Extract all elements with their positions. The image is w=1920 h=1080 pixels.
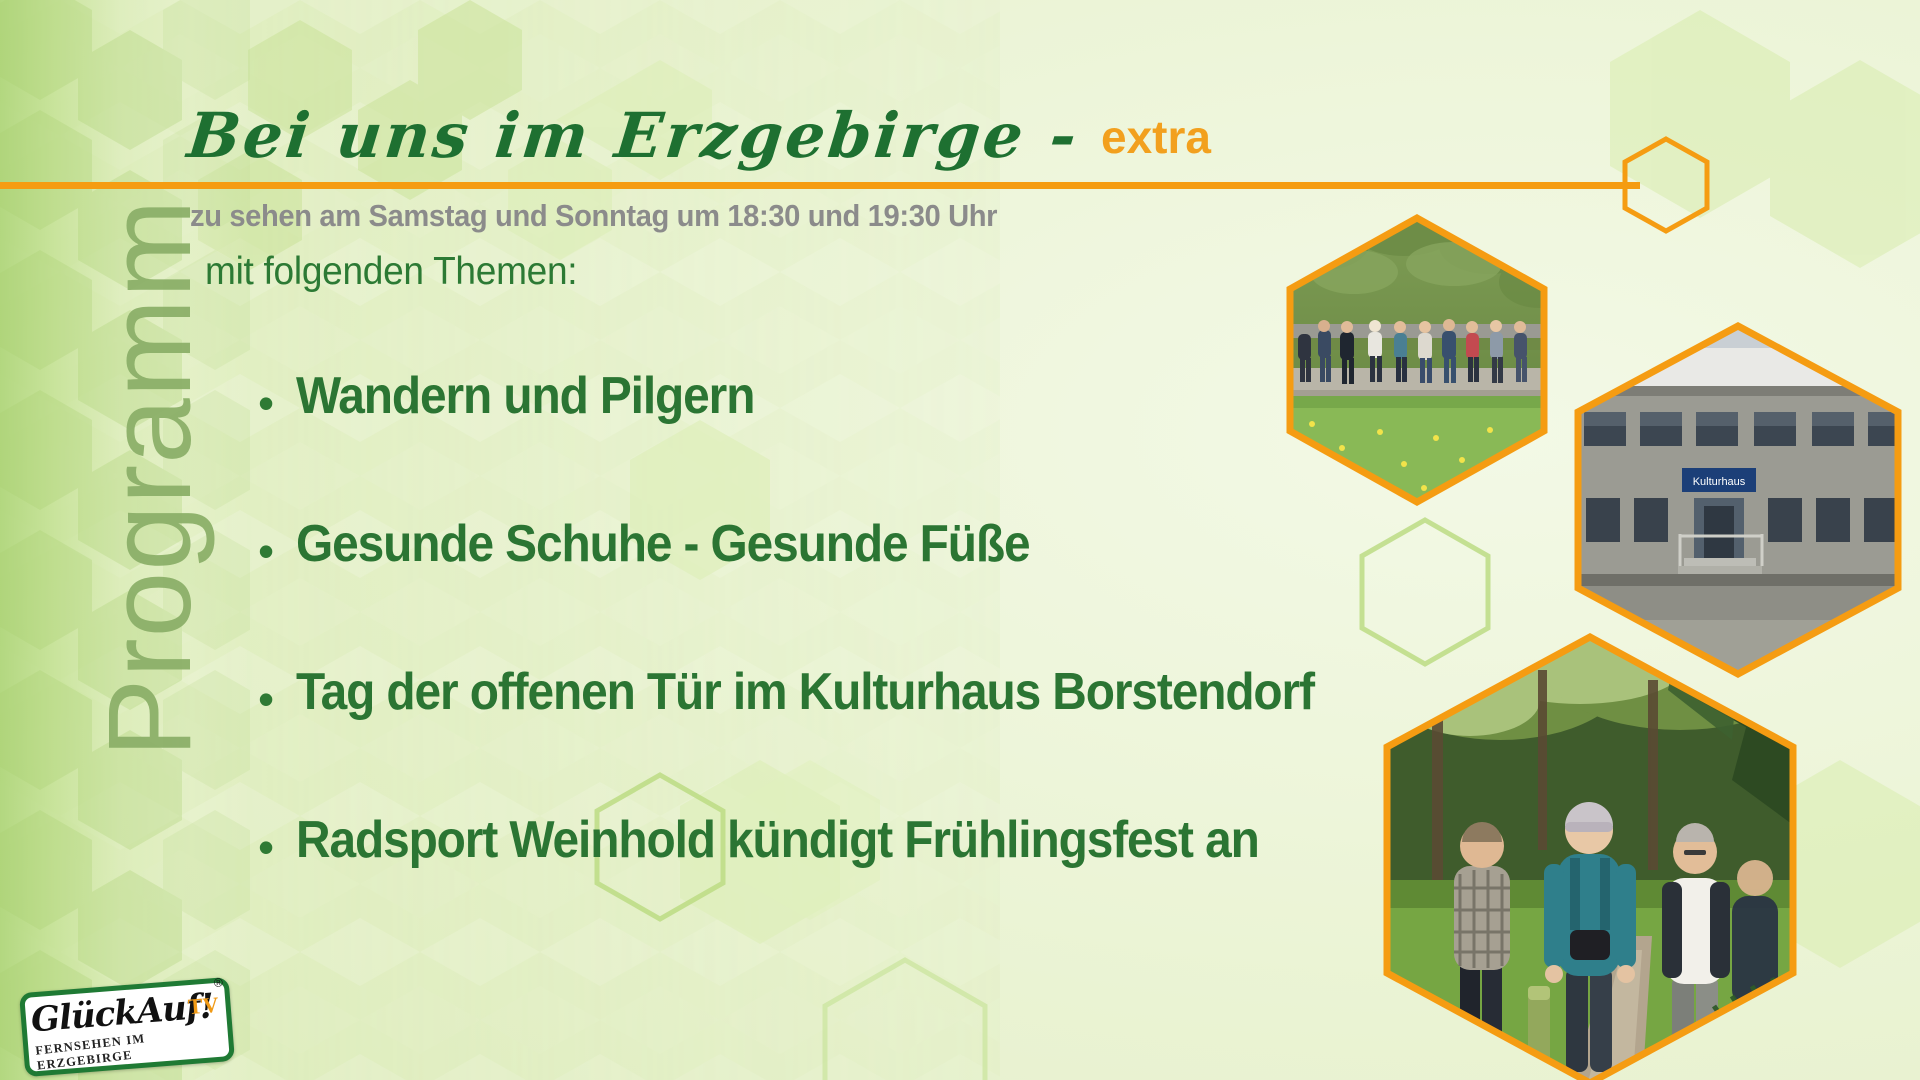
photo-hexagon-forest-hikers [1380,630,1800,1080]
photo-hexagon-hikers-group [1284,212,1550,508]
logo-registered-mark-icon: ® [213,975,223,990]
topic-label: Radsport Weinhold kündigt Frühlingsfest … [296,814,1259,866]
bullet-dot-icon: • [258,528,274,574]
airtime-note: zu sehen am Samstag und Sonntag um 18:30… [190,198,997,234]
lead-in-text: mit folgenden Themen: [205,250,577,294]
bullet-dot-icon: • [258,676,274,722]
list-item: • Wandern und Pilgern [258,370,1438,518]
topic-label: Wandern und Pilgern [296,370,754,422]
slide-title: Bei uns im Erzgebirge - extra [188,105,1211,167]
photo-hexagon-kulturhaus: Kulturhaus [1572,320,1904,680]
rule-end-hexagon-icon [1622,136,1710,234]
channel-logo: GlückAuf! TV ® FERNSEHEN IM ERZGEBIRGE [19,977,235,1077]
list-item: • Radsport Weinhold kündigt Frühlingsfes… [258,814,1438,962]
logo-tv-suffix: TV [187,992,220,1020]
list-item: • Tag der offenen Tür im Kulturhaus Bors… [258,666,1438,814]
topic-label: Tag der offenen Tür im Kulturhaus Borste… [296,666,1314,718]
program-slide: Programm Bei uns im Erzgebirge - extra z… [0,0,1920,1080]
topic-list: • Wandern und Pilgern • Gesunde Schuhe -… [258,370,1438,962]
bullet-dot-icon: • [258,824,274,870]
bullet-dot-icon: • [258,380,274,426]
list-item: • Gesunde Schuhe - Gesunde Füße [258,518,1438,666]
topic-label: Gesunde Schuhe - Gesunde Füße [296,518,1030,570]
title-accent-extra: extra [1101,114,1211,160]
title-underline-rule [0,182,1640,189]
title-main-text: Bei uns im Erzgebirge - [185,105,1083,167]
svg-text:Kulturhaus: Kulturhaus [1693,476,1746,488]
